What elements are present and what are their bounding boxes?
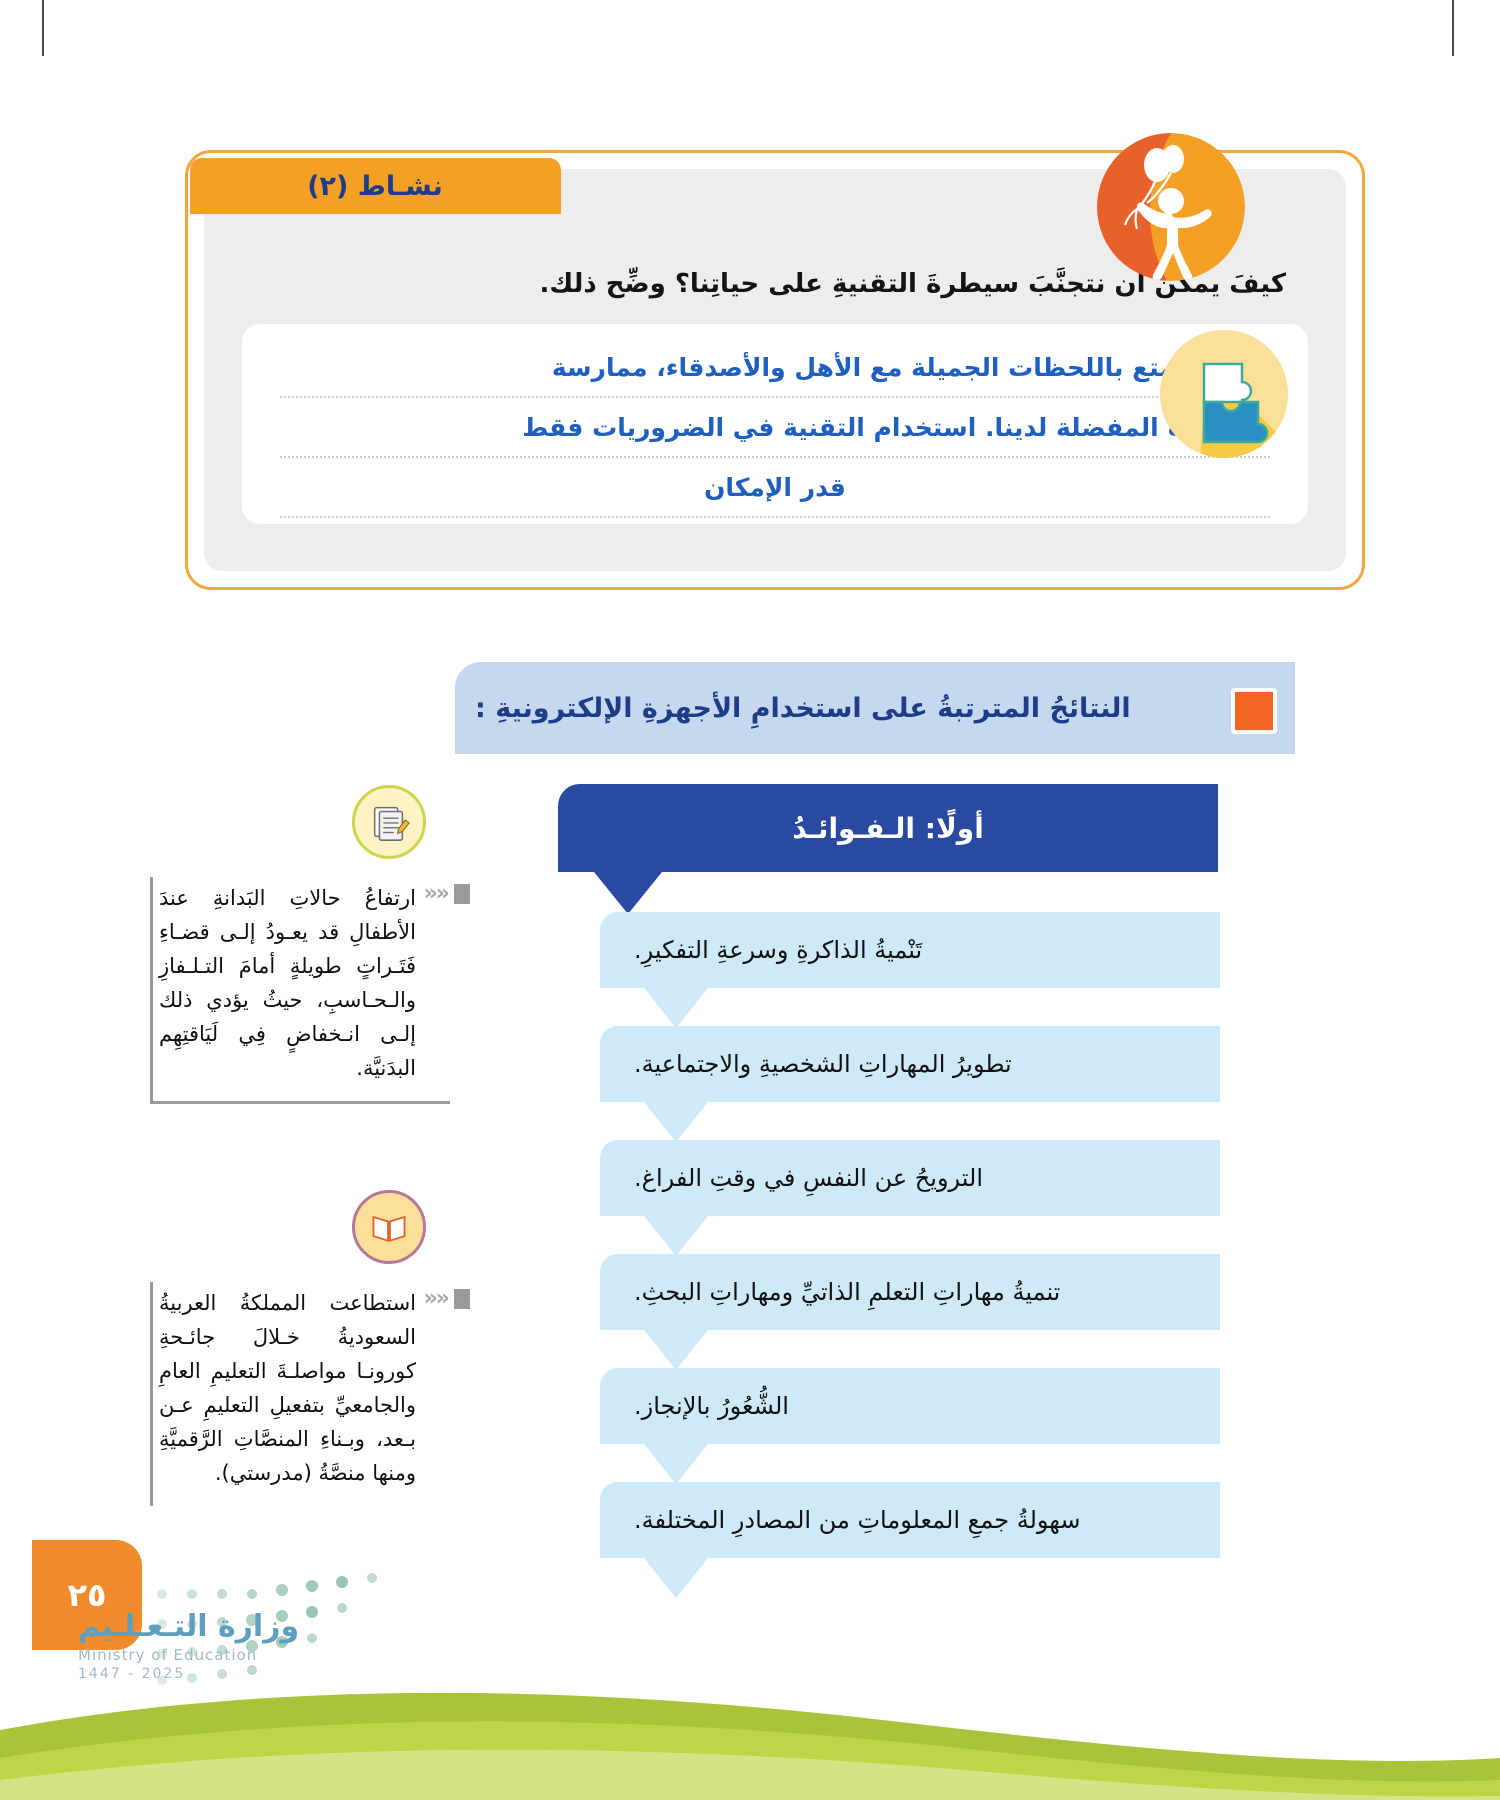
- benefit-arrow-tail: [644, 1216, 708, 1256]
- benefit-item: سهولةُ جمعِ المعلوماتِ من المصادرِ المخت…: [600, 1482, 1220, 1558]
- benefit-item: تطويرُ المهاراتِ الشخصيةِ والاجتماعية.: [600, 1026, 1220, 1102]
- notepad-pencil-icon: [352, 785, 426, 859]
- open-book-icon: [352, 1190, 426, 1264]
- ministry-name-ar: وزارة التـعـلـيم: [78, 1609, 299, 1644]
- benefit-item: تنميةُ مهاراتِ التعلمِ الذاتيِّ ومهاراتِ…: [600, 1254, 1220, 1330]
- answer-text: قدر الإمكان: [704, 473, 846, 502]
- answer-text: الهوايات المفضلة لدينا. استخدام التقنية …: [522, 413, 1270, 442]
- ministry-year: 2025 - 1447: [78, 1666, 299, 1682]
- activity-tab: نشـاط (٢): [190, 158, 560, 214]
- crop-mark-top-right: [1452, 0, 1454, 56]
- benefit-arrow-tail: [644, 988, 708, 1028]
- benefit-arrow-tail: [644, 1102, 708, 1142]
- benefit-label: سهولةُ جمعِ المعلوماتِ من المصادرِ المخت…: [600, 1482, 1220, 1558]
- answer-line[interactable]: قدر الإمكان: [280, 458, 1270, 518]
- note-text: استطاعت المملكةُ العربيةُ السعوديةُ خـلا…: [150, 1282, 450, 1506]
- benefit-item: الترويحُ عن النفسِ في وقتِ الفراغ.: [600, 1140, 1220, 1216]
- benefit-arrow-tail: [644, 1330, 708, 1370]
- benefit-arrow-tail: [644, 1444, 708, 1484]
- ministry-logo: وزارة التـعـلـيم Ministry of Education 2…: [78, 1609, 299, 1682]
- benefit-label: الترويحُ عن النفسِ في وقتِ الفراغ.: [600, 1140, 1220, 1216]
- answer-line[interactable]: الهوايات المفضلة لدينا. استخدام التقنية …: [280, 398, 1270, 458]
- benefit-label: الشُّعُورُ بالإنجاز.: [600, 1368, 1220, 1444]
- crop-mark-top-left: [42, 0, 44, 56]
- note-text: ارتفاعُ حالاتِ البَدانةِ عندَ الأطفالِ ق…: [150, 877, 450, 1104]
- activity-tab-label: نشـاط (٢): [190, 158, 560, 214]
- benefit-label: تَنْميةُ الذاكرةِ وسرعةِ التفكيرِ.: [600, 912, 1220, 988]
- benefits-banner: أولًا: الـفـوائـدُ: [558, 784, 1218, 872]
- puzzle-piece-icon: [1160, 330, 1288, 458]
- answer-line[interactable]: بأن نستمتع باللحظات الجميلة مع الأهل وال…: [280, 338, 1270, 398]
- benefit-label: تطويرُ المهاراتِ الشخصيةِ والاجتماعية.: [600, 1026, 1220, 1102]
- benefits-banner-label: أولًا: الـفـوائـدُ: [558, 784, 1218, 872]
- section-title: النتائجُ المترتبةُ على استخدامِ الأجهزةِ…: [475, 662, 1205, 754]
- banner-arrow-tail: [594, 872, 662, 914]
- person-balloons-icon: [1097, 133, 1245, 281]
- activity-answer-box[interactable]: بأن نستمتع باللحظات الجميلة مع الأهل وال…: [242, 324, 1308, 524]
- benefit-item: تَنْميةُ الذاكرةِ وسرعةِ التفكيرِ.: [600, 912, 1220, 988]
- benefit-item: الشُّعُورُ بالإنجاز.: [600, 1368, 1220, 1444]
- ministry-name-en: Ministry of Education: [78, 1646, 299, 1664]
- section-header: النتائجُ المترتبةُ على استخدامِ الأجهزةِ…: [455, 662, 1295, 754]
- benefit-label: تنميةُ مهاراتِ التعلمِ الذاتيِّ ومهاراتِ…: [600, 1254, 1220, 1330]
- orange-square-bullet-icon: [1231, 688, 1277, 734]
